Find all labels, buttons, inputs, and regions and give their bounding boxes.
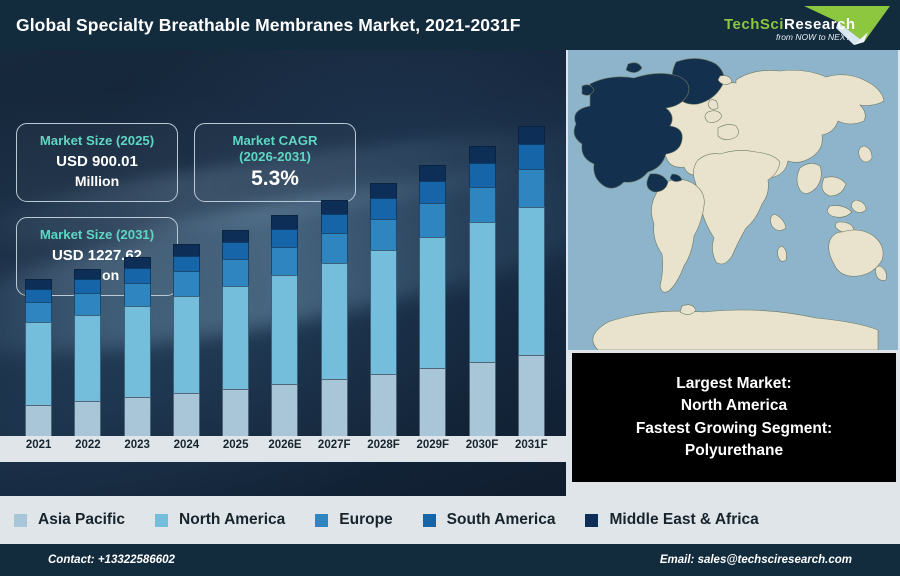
x-axis-tick-label: 2030F	[457, 436, 506, 454]
bar-segment[interactable]	[173, 271, 200, 296]
bar-segment[interactable]	[25, 302, 52, 322]
info-line-0: Largest Market:	[676, 373, 791, 396]
bar-segment[interactable]	[222, 259, 249, 285]
bar-segment[interactable]	[74, 293, 101, 315]
x-axis-tick-label: 2024	[162, 436, 211, 454]
bar-segment[interactable]	[370, 198, 397, 219]
legend-swatch-icon	[14, 514, 27, 527]
legend-item[interactable]: Middle East & Africa	[585, 511, 758, 529]
bar-stack[interactable]	[74, 269, 101, 462]
legend-label: South America	[447, 511, 556, 529]
bar-segment[interactable]	[518, 207, 545, 355]
chart-legend: Asia PacificNorth AmericaEuropeSouth Ame…	[0, 496, 900, 544]
bar-segment[interactable]	[124, 283, 151, 306]
bar-segment[interactable]	[271, 275, 298, 384]
bar-series-container	[14, 106, 556, 462]
footer-bar: Contact: +13322586602 Email: sales@techs…	[0, 544, 900, 576]
bar-stack[interactable]	[321, 200, 348, 462]
x-axis-tick-label: 2031F	[507, 436, 556, 454]
x-axis-tick-label: 2021	[14, 436, 63, 454]
bar-stack[interactable]	[271, 215, 298, 462]
bar-segment[interactable]	[469, 187, 496, 223]
bar-segment[interactable]	[124, 268, 151, 283]
info-line-2: Fastest Growing Segment:	[636, 418, 832, 441]
legend-label: Asia Pacific	[38, 511, 125, 529]
bar-segment[interactable]	[25, 289, 52, 302]
svg-text:TechSci: TechSci	[724, 16, 784, 33]
x-axis-tick-label: 2022	[63, 436, 112, 454]
bar-segment[interactable]	[370, 219, 397, 250]
bar-segment[interactable]	[25, 279, 52, 289]
bar-group[interactable]	[507, 106, 556, 462]
bar-segment[interactable]	[321, 233, 348, 263]
bar-segment[interactable]	[518, 144, 545, 169]
right-panel: Largest Market: North America Fastest Gr…	[566, 50, 900, 496]
bar-segment[interactable]	[271, 247, 298, 275]
svg-text:from NOW to NEXT: from NOW to NEXT	[776, 32, 851, 42]
bar-segment[interactable]	[321, 200, 348, 214]
chart-panel: Market Size (2025) USD 900.01 Million Ma…	[0, 50, 566, 496]
bar-group[interactable]	[260, 106, 309, 462]
bar-group[interactable]	[113, 106, 162, 462]
legend-item[interactable]: Europe	[315, 511, 392, 529]
bar-group[interactable]	[63, 106, 112, 462]
bar-segment[interactable]	[321, 263, 348, 379]
legend-label: Middle East & Africa	[609, 511, 758, 529]
infographic-root: Global Specialty Breathable Membranes Ma…	[0, 0, 900, 576]
info-line-3: Polyurethane	[685, 440, 783, 463]
bar-segment[interactable]	[321, 214, 348, 233]
x-axis-labels: 202120222023202420252026E2027F2028F2029F…	[14, 436, 556, 454]
bar-stack[interactable]	[25, 279, 52, 462]
bar-stack[interactable]	[124, 257, 151, 462]
bar-segment[interactable]	[222, 286, 249, 389]
bar-segment[interactable]	[469, 163, 496, 186]
bar-stack[interactable]	[173, 244, 200, 462]
contact-text: Contact: +13322586602	[48, 554, 175, 566]
bar-segment[interactable]	[222, 230, 249, 243]
bar-segment[interactable]	[518, 126, 545, 145]
legend-swatch-icon	[423, 514, 436, 527]
bar-segment[interactable]	[419, 181, 446, 203]
bar-segment[interactable]	[271, 229, 298, 247]
key-insights-box: Largest Market: North America Fastest Gr…	[572, 353, 896, 482]
techsci-research-logo: TechSci Research from NOW to NEXT	[718, 2, 894, 48]
plot-area: 202120222023202420252026E2027F2028F2029F…	[0, 106, 566, 462]
bar-segment[interactable]	[25, 322, 52, 404]
bar-segment[interactable]	[124, 306, 151, 397]
bar-segment[interactable]	[419, 203, 446, 237]
bar-stack[interactable]	[370, 183, 397, 462]
body-area: Market Size (2025) USD 900.01 Million Ma…	[0, 50, 900, 496]
bar-segment[interactable]	[173, 256, 200, 272]
x-axis-tick-label: 2026E	[260, 436, 309, 454]
bar-group[interactable]	[359, 106, 408, 462]
bar-group[interactable]	[211, 106, 260, 462]
bar-stack[interactable]	[222, 230, 249, 462]
bar-segment[interactable]	[370, 250, 397, 373]
bar-stack[interactable]	[469, 146, 496, 462]
bar-segment[interactable]	[370, 183, 397, 198]
legend-label: Europe	[339, 511, 392, 529]
bar-stack[interactable]	[518, 126, 545, 462]
bar-stack[interactable]	[419, 165, 446, 462]
x-axis-tick-label: 2023	[113, 436, 162, 454]
bar-segment[interactable]	[74, 279, 101, 293]
bar-segment[interactable]	[222, 242, 249, 259]
info-line-1: North America	[681, 395, 787, 418]
legend-swatch-icon	[585, 514, 598, 527]
bar-segment[interactable]	[469, 146, 496, 164]
svg-text:Research: Research	[784, 16, 856, 33]
bar-segment[interactable]	[74, 315, 101, 402]
bar-segment[interactable]	[74, 269, 101, 279]
x-axis-tick-label: 2028F	[359, 436, 408, 454]
legend-swatch-icon	[315, 514, 328, 527]
bar-segment[interactable]	[124, 257, 151, 268]
bar-segment[interactable]	[419, 237, 446, 368]
page-title: Global Specialty Breathable Membranes Ma…	[16, 15, 521, 36]
bar-segment[interactable]	[173, 296, 200, 393]
world-map	[568, 50, 898, 350]
bar-segment[interactable]	[419, 165, 446, 181]
legend-item[interactable]: South America	[423, 511, 556, 529]
legend-item[interactable]: Asia Pacific	[14, 511, 125, 529]
bar-group[interactable]	[457, 106, 506, 462]
bar-group[interactable]	[162, 106, 211, 462]
bar-group[interactable]	[310, 106, 359, 462]
x-axis-tick-label: 2025	[211, 436, 260, 454]
bar-group[interactable]	[14, 106, 63, 462]
bar-segment[interactable]	[173, 244, 200, 256]
legend-label: North America	[179, 511, 285, 529]
bar-segment[interactable]	[469, 222, 496, 361]
header-bar: Global Specialty Breathable Membranes Ma…	[0, 0, 900, 50]
email-text[interactable]: Email: sales@techsciresearch.com	[660, 554, 852, 566]
bar-group[interactable]	[408, 106, 457, 462]
bar-segment[interactable]	[518, 169, 545, 207]
legend-item[interactable]: North America	[155, 511, 285, 529]
legend-swatch-icon	[155, 514, 168, 527]
bar-segment[interactable]	[271, 215, 298, 228]
x-axis-tick-label: 2029F	[408, 436, 457, 454]
x-axis-tick-label: 2027F	[310, 436, 359, 454]
